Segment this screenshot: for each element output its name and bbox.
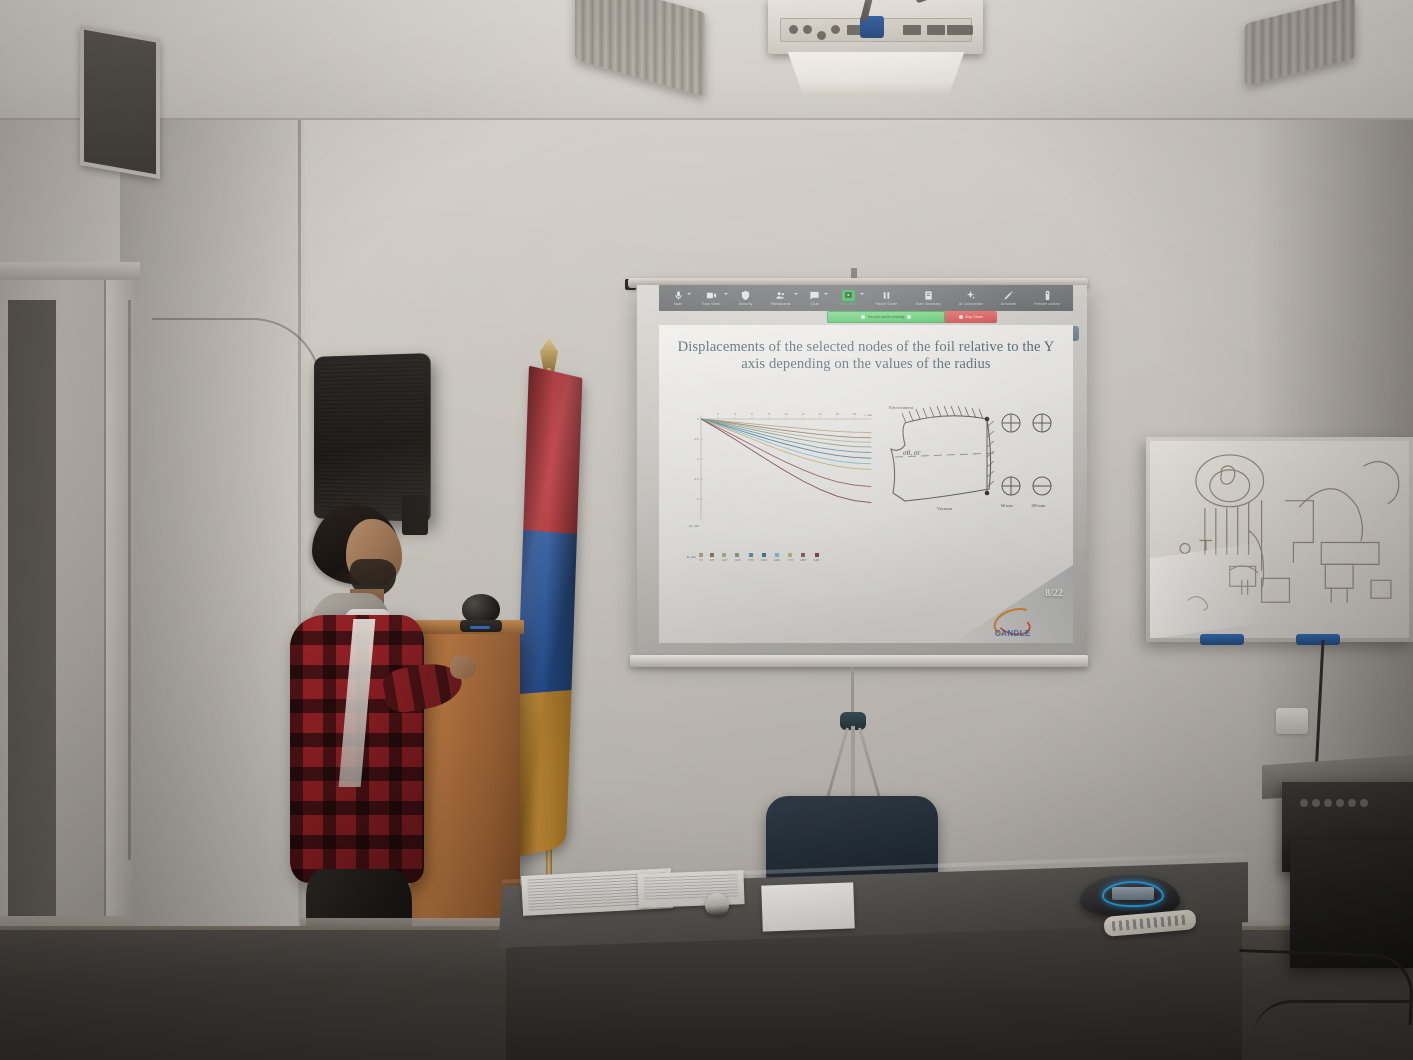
zoom-button-annotate[interactable]: Annotate: [1001, 290, 1016, 306]
screen-bottom-weight-bar: [630, 655, 1088, 667]
projector-body: [768, 0, 983, 54]
chevron-up-icon[interactable]: [860, 293, 864, 295]
ceiling-projector: [768, 0, 983, 93]
svg-text:2: 2: [717, 412, 719, 416]
svg-text:t, mm: t, mm: [865, 413, 873, 418]
diagram-caption-left: 60 mm: [1001, 503, 1013, 508]
sketch-legs: [1331, 588, 1347, 602]
sketch-table-top: [1321, 542, 1379, 564]
projector-port-hdmi-1: [927, 25, 945, 35]
room-photo-scene: Mute Stop Video Security P: [0, 0, 1413, 1060]
rack-knob[interactable]: [1360, 799, 1368, 807]
sketch-circle-inner: [1210, 470, 1250, 502]
chart-legend-swatch: [815, 553, 819, 557]
rack-knob[interactable]: [1300, 799, 1308, 807]
chart-legend-swatch: [722, 553, 726, 557]
zoom-button-remote-control[interactable]: Remote control: [1034, 290, 1060, 306]
zoom-meeting-toolbar[interactable]: Mute Stop Video Security P: [659, 285, 1073, 311]
chart-legend-label: 1750: [747, 558, 753, 562]
diagram-label-vacuum: Vacuum: [937, 506, 952, 511]
zoom-button-start-summary-label: Start Summary: [915, 302, 940, 306]
chart-legend-label: 1753: [787, 558, 793, 562]
chart-legend-label: 4097: [800, 558, 806, 562]
whiteboard: [1146, 437, 1413, 642]
chart-legend-swatch: [762, 553, 766, 557]
whiteboard-glare: [1150, 543, 1275, 638]
chart-legend-title: R, mm: [687, 555, 696, 559]
projector-port-audio-2: [803, 25, 812, 34]
svg-text:6: 6: [751, 412, 753, 416]
av-rack-controls: [1300, 790, 1405, 816]
screen-sharing-banner: You are screen sharing: [827, 311, 945, 323]
chart-legend-item: 1753: [787, 553, 793, 562]
zoom-button-participants-label: Participants: [771, 302, 791, 306]
video-camera-icon: [705, 290, 717, 301]
chart-svg: 24681012141618t, mm0-0.5-1-1.5-2Uy, mm: [675, 401, 875, 551]
zoom-button-start-summary[interactable]: Start Summary: [915, 290, 940, 306]
projector-port-ethernet: [963, 25, 973, 35]
chart-legend-item: 1120: [734, 553, 740, 562]
svg-text:-2: -2: [696, 497, 699, 501]
rack-knob[interactable]: [1336, 799, 1344, 807]
chart-legend-item: 55: [699, 553, 703, 562]
sketch-dome: [1299, 489, 1362, 541]
chevron-up-icon[interactable]: [724, 293, 728, 295]
chevron-up-icon[interactable]: [794, 293, 798, 295]
svg-text:18: 18: [852, 412, 856, 416]
chart-legend-label: 647: [710, 558, 715, 562]
displacement-line-chart: 24681012141618t, mm0-0.5-1-1.5-2Uy, mm: [675, 401, 875, 551]
diagram-stress-symbols: σθ, σr: [903, 448, 921, 457]
slide-page-number: 8/22: [1045, 588, 1063, 599]
sketch-blob: [1221, 466, 1235, 484]
sharing-indicator-icon-2: [907, 315, 911, 319]
marker-plus-bottom-left: [1002, 477, 1020, 495]
stop-share-icon: [959, 315, 963, 319]
pause-icon: [880, 290, 892, 301]
chart-legend-item: 4405: [774, 553, 780, 562]
summary-doc-icon: [922, 290, 934, 301]
marker-tray-right: [1296, 634, 1340, 645]
projector-port-audio-3: [817, 31, 826, 40]
chart-legend-swatch: [699, 553, 703, 557]
svg-text:10: 10: [784, 412, 788, 416]
zoom-button-security-label: Security: [739, 302, 753, 306]
screen-sharing-banner-label: You are screen sharing: [868, 315, 905, 319]
chart-legend-swatch: [735, 553, 739, 557]
door-header: [0, 262, 140, 280]
pencil-icon: [1002, 290, 1014, 301]
sketch-rect-c: [1371, 580, 1391, 598]
blank-paper-sheet: [761, 882, 855, 931]
chart-legend-item: 2345: [761, 553, 767, 562]
whiteboard-surface: [1150, 441, 1409, 638]
chart-legend-swatch: [775, 553, 779, 557]
sharing-indicator-icon: [861, 315, 865, 319]
svg-text:4: 4: [734, 412, 736, 416]
remote-control-icon: [1041, 290, 1053, 301]
rack-knob[interactable]: [1348, 799, 1356, 807]
zoom-button-security[interactable]: Security: [739, 290, 753, 306]
projector-port-audio-1: [789, 25, 798, 34]
chart-legend-item: 1147: [721, 553, 727, 562]
svg-text:8: 8: [768, 412, 770, 416]
rack-knob[interactable]: [1312, 799, 1320, 807]
zoom-button-stop-video-label: Stop Video: [702, 302, 721, 306]
zoom-button-pause-share-label: Pause Share: [876, 302, 898, 306]
zoom-button-remote-control-label: Remote control: [1034, 302, 1060, 306]
ceiling: [0, 0, 1413, 120]
projector-lens-hood: [780, 52, 972, 94]
ceiling-wall-join: [0, 118, 1413, 120]
doorway-interior: [8, 300, 56, 930]
speakerphone-display: [1112, 887, 1154, 900]
speaker-grille: [320, 359, 425, 515]
foil-cross-section: [891, 416, 991, 501]
wall-power-outlet[interactable]: [1276, 708, 1308, 734]
slide-title: Displacements of the selected nodes of t…: [677, 339, 1055, 373]
slide-logo: CANDLE: [991, 605, 1065, 639]
projector-ceiling-wire: [915, 0, 992, 3]
zoom-button-chat-label: Chat: [811, 302, 819, 306]
chart-legend-label: 2345: [761, 558, 767, 562]
presentation-slide: Displacements of the selected nodes of t…: [659, 325, 1073, 643]
zoom-button-ai-companion-label: AI Companion: [959, 302, 983, 306]
chart-legend-swatch: [801, 553, 805, 557]
zoom-button-annotate-label: Annotate: [1001, 302, 1016, 306]
zoom-button-participants[interactable]: Participants: [771, 290, 791, 306]
shield-icon: [740, 290, 752, 301]
chart-legend-item: 647: [710, 553, 715, 562]
chart-legend-item: 4097: [800, 553, 806, 562]
chevron-up-icon[interactable]: [687, 293, 691, 295]
rack-knob[interactable]: [1324, 799, 1332, 807]
chart-legend-label: 4405: [774, 558, 780, 562]
foil-diagram-svg: Environment Vacuum σθ, σr: [875, 397, 1065, 527]
zoom-button-chat[interactable]: Chat: [809, 290, 821, 306]
chat-bubble-icon: [809, 290, 821, 301]
stop-share-button-label: Stop Share: [965, 315, 983, 319]
camera-status-led: [470, 626, 490, 629]
svg-text:-1.5: -1.5: [694, 477, 700, 481]
marker-plus-top-right: [1033, 414, 1051, 432]
foil-stress-diagram: Environment Vacuum σθ, σr: [875, 397, 1065, 527]
chart-legend-swatch: [710, 553, 714, 557]
microphone-icon: [672, 290, 684, 301]
zoom-button-mute[interactable]: Mute: [672, 290, 684, 306]
sketch-table-box: [1325, 564, 1353, 588]
chevron-up-icon[interactable]: [824, 293, 828, 295]
zoom-button-ai-companion[interactable]: AI Companion: [959, 290, 983, 306]
projector-port-vga-2: [903, 25, 921, 35]
floor-cable-2: [1252, 1000, 1413, 1040]
ai-sparkle-icon: [965, 290, 977, 301]
chart-legend-label: 5481: [813, 558, 819, 562]
zoom-button-pause-share[interactable]: Pause Share: [876, 290, 898, 306]
svg-text:16: 16: [835, 412, 839, 416]
zoom-button-mute-label: Mute: [674, 302, 682, 306]
svg-text:Uy, mm: Uy, mm: [689, 524, 700, 529]
wall-conduit: [128, 300, 131, 860]
svg-text:12: 12: [801, 412, 805, 416]
presenter-hand: [450, 655, 476, 679]
chart-legend: R, mm 5564711471120175023454405175340975…: [687, 553, 877, 575]
diagram-caption-right: 100 mm: [1031, 503, 1046, 508]
chart-series-lines: [701, 419, 871, 503]
screen-share-status-strip: You are screen sharing Stop Share: [827, 311, 997, 323]
wall-air-vent: [80, 25, 160, 179]
zoom-button-new-share[interactable]: New Share: [839, 290, 858, 306]
slide-logo-text: CANDLE: [995, 629, 1031, 638]
chart-legend-label: 1120: [734, 558, 740, 562]
zoom-button-stop-video[interactable]: Stop Video: [702, 290, 721, 306]
chart-legend-item: 5481: [813, 553, 819, 562]
marker-plus-top-left: [1002, 414, 1020, 432]
chart-legend-swatch: [788, 553, 792, 557]
chart-legend-item: 1750: [747, 553, 753, 562]
diagram-label-environment: Environment: [889, 405, 914, 410]
marker-minus-bottom-right: [1033, 477, 1051, 495]
stop-share-button[interactable]: Stop Share: [945, 311, 997, 323]
podium-conference-camera: [458, 592, 504, 632]
projector-port-svideo: [831, 25, 840, 34]
sketch-circle-outer: [1196, 455, 1264, 507]
chart-legend-items: 5564711471120175023454405175340975481: [699, 553, 820, 562]
chart-legend-label: 55: [699, 558, 702, 562]
svg-text:14: 14: [818, 412, 822, 416]
svg-text:-1: -1: [696, 457, 699, 461]
side-monitor: [1290, 840, 1413, 968]
svg-text:-0.5: -0.5: [694, 437, 700, 441]
chart-legend-label: 1147: [721, 558, 727, 562]
sketch-arc-right: [1364, 462, 1399, 504]
node-bottom: [985, 491, 990, 496]
projection-screen: Mute Stop Video Security P: [637, 285, 1087, 655]
participants-icon: [775, 290, 787, 301]
zoom-button-new-share-label: New Share: [839, 302, 858, 306]
marker-tray-left: [1200, 634, 1244, 645]
node-top: [985, 417, 990, 422]
share-screen-icon: [842, 290, 855, 301]
sketch-path-c: [1285, 501, 1313, 563]
wall-cable-run: [152, 318, 322, 438]
svg-text:0: 0: [697, 417, 699, 421]
chart-legend-swatch: [749, 553, 753, 557]
computer-mouse: [705, 893, 729, 915]
